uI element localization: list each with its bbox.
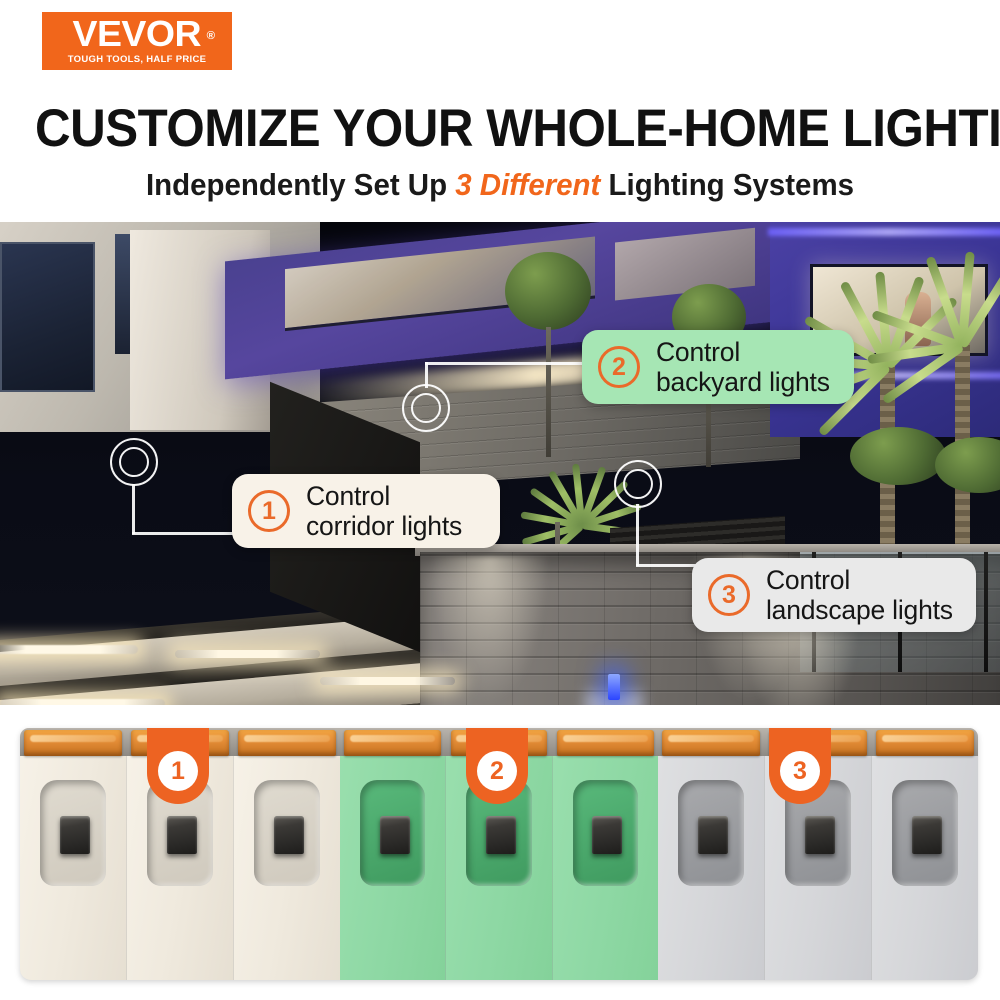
tree-trunk <box>546 327 551 457</box>
rocker-switch[interactable] <box>274 816 304 854</box>
blue-led-strip-top <box>768 228 1000 236</box>
callout-line-2: corridor lights <box>306 511 462 541</box>
page-headline: CUSTOMIZE YOUR WHOLE-HOME LIGHTING <box>35 98 965 159</box>
breaker-module[interactable] <box>658 728 765 980</box>
vevor-logo: VEVOR ® TOUGH TOOLS, HALF PRICE <box>42 12 232 70</box>
blue-wall-light <box>608 674 620 700</box>
topiary-shrub <box>505 252 591 330</box>
leader-line-3 <box>636 504 639 566</box>
breaker-panel-photo: 1 2 3 <box>0 714 1000 1000</box>
leader-line-2 <box>425 362 428 388</box>
callout-text-1: Control corridor lights <box>306 481 462 541</box>
rocker-switch[interactable] <box>805 816 835 854</box>
balcony-window-small <box>615 228 755 301</box>
ground-led-strip <box>175 650 320 658</box>
topiary-shrub <box>850 427 946 485</box>
panel-badge-number-3: 3 <box>780 751 820 791</box>
rocker-switch[interactable] <box>592 816 622 854</box>
leader-line-1 <box>132 484 135 534</box>
breaker-body <box>340 754 445 980</box>
terminal-block <box>557 730 654 756</box>
callout-line-2: landscape lights <box>766 595 953 625</box>
terminal-block <box>24 730 122 756</box>
breaker-module[interactable] <box>872 728 978 980</box>
callout-text-2: Control backyard lights <box>656 337 830 397</box>
switch-well <box>254 780 320 886</box>
subheadline-accent: 3 Different <box>455 167 600 202</box>
callout-corridor-lights[interactable]: 1 Control corridor lights <box>232 474 500 548</box>
callout-line-1: Control <box>306 481 462 511</box>
logo-tagline: TOUGH TOOLS, HALF PRICE <box>68 54 207 65</box>
window-left <box>0 242 95 392</box>
panel-badge-number-1: 1 <box>158 751 198 791</box>
breaker-body <box>234 754 340 980</box>
panel-badge-2: 2 <box>466 728 528 804</box>
terminal-block <box>344 730 441 756</box>
breaker-body <box>872 754 978 980</box>
callout-number-3: 3 <box>708 574 750 616</box>
switch-well <box>892 780 958 886</box>
subheadline-part-1: Independently Set Up <box>146 167 455 202</box>
step-led-strip <box>0 699 165 705</box>
panel-badge-3: 3 <box>769 728 831 804</box>
callout-line-1: Control <box>656 337 830 367</box>
reticle-marker-2 <box>402 384 450 432</box>
reticle-marker-1 <box>110 438 158 486</box>
page-subheadline: Independently Set Up 3 Different Lightin… <box>25 167 975 203</box>
switch-well <box>573 780 638 886</box>
callout-number-2: 2 <box>598 346 640 388</box>
night-scene-photo <box>0 222 1000 705</box>
reticle-marker-3 <box>614 460 662 508</box>
registered-trademark-icon: ® <box>207 19 215 53</box>
breaker-module[interactable] <box>553 728 658 980</box>
wall-light-wash <box>740 622 860 705</box>
subheadline-part-2: Lighting Systems <box>609 167 854 202</box>
callout-number-1: 1 <box>248 490 290 532</box>
switch-well <box>40 780 106 886</box>
switch-well <box>360 780 425 886</box>
rocker-switch[interactable] <box>167 816 197 854</box>
panel-badge-number-2: 2 <box>477 751 517 791</box>
panel-badge-1: 1 <box>147 728 209 804</box>
leader-line-2b <box>425 362 595 365</box>
terminal-block <box>876 730 974 756</box>
breaker-module[interactable] <box>234 728 340 980</box>
rocker-switch[interactable] <box>912 816 942 854</box>
callout-line-2: backyard lights <box>656 367 830 397</box>
rocker-switch[interactable] <box>486 816 516 854</box>
switch-well <box>678 780 744 886</box>
rocker-switch[interactable] <box>380 816 410 854</box>
breaker-body <box>553 754 658 980</box>
logo-wordmark: VEVOR ® <box>73 17 201 51</box>
balustrade-post <box>984 552 988 672</box>
terminal-block <box>662 730 760 756</box>
terminal-block <box>238 730 336 756</box>
callout-landscape-lights[interactable]: 3 Control landscape lights <box>692 558 976 632</box>
callout-line-1: Control <box>766 565 953 595</box>
callout-text-3: Control landscape lights <box>766 565 953 625</box>
rocker-switch[interactable] <box>698 816 728 854</box>
breaker-body <box>20 754 126 980</box>
step-led-strip <box>0 645 138 654</box>
leader-line-1b <box>132 532 244 535</box>
logo-wordmark-text: VEVOR <box>73 13 201 54</box>
breaker-module[interactable] <box>20 728 127 980</box>
breaker-module[interactable] <box>340 728 446 980</box>
rocker-switch[interactable] <box>60 816 90 854</box>
ground-led-strip <box>320 677 455 685</box>
breaker-body <box>658 754 764 980</box>
callout-backyard-lights[interactable]: 2 Control backyard lights <box>582 330 854 404</box>
